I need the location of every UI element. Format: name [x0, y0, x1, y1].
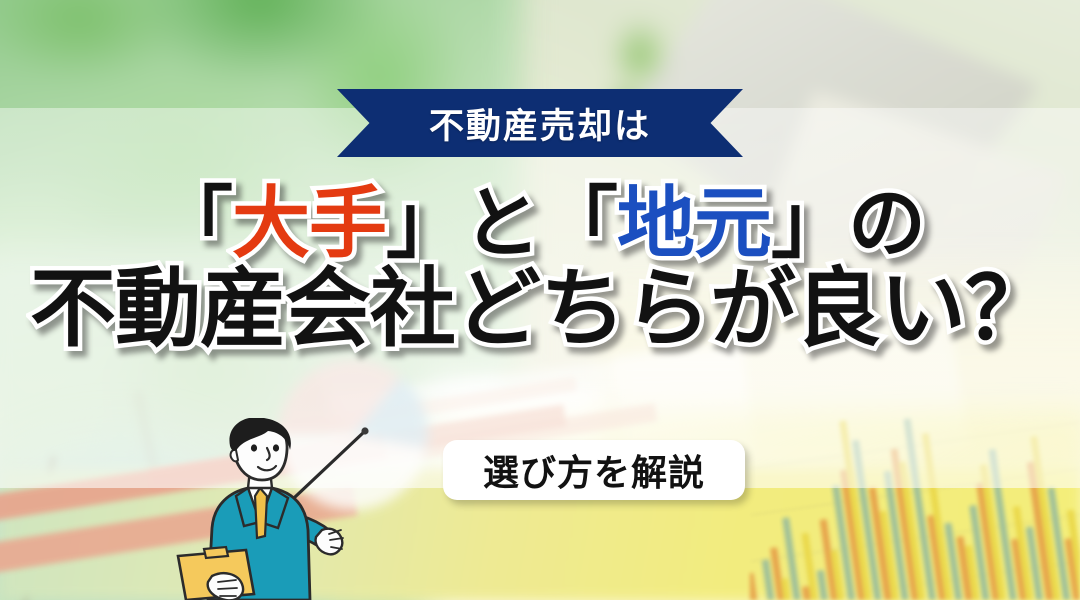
businessman-illustration [168, 418, 408, 600]
thumbnail-canvas: 不動産売却は 「大手」と「地元」の 不動産会社どちらが良い？ 選び方を解説 [0, 0, 1080, 600]
headline: 「大手」と「地元」の 不動産会社どちらが良い？ [0, 184, 1080, 353]
headline-run-blue-3: 地元 [617, 184, 771, 264]
eye-left [251, 444, 257, 451]
subtitle-badge-label: 選び方を解説 [483, 444, 705, 496]
subtitle-badge: 選び方を解説 [443, 440, 745, 500]
headline-line-2: 不動産会社どちらが良い？ [0, 266, 1080, 354]
headline-run-ink-0: 不動産会社どちらが良い？ [30, 266, 1050, 354]
headline-run-ink-4: 」の [771, 184, 925, 264]
headline-run-ink-0: 「 [155, 184, 232, 264]
ribbon-label: 不動産売却は [337, 89, 743, 157]
headline-line-1: 「大手」と「地元」の [0, 184, 1080, 264]
headline-run-ink-2: 」と「 [386, 184, 617, 264]
chart-bar [750, 572, 765, 600]
necktie [255, 488, 267, 538]
eye-right [273, 444, 279, 451]
headline-run-red-1: 大手 [232, 184, 386, 264]
